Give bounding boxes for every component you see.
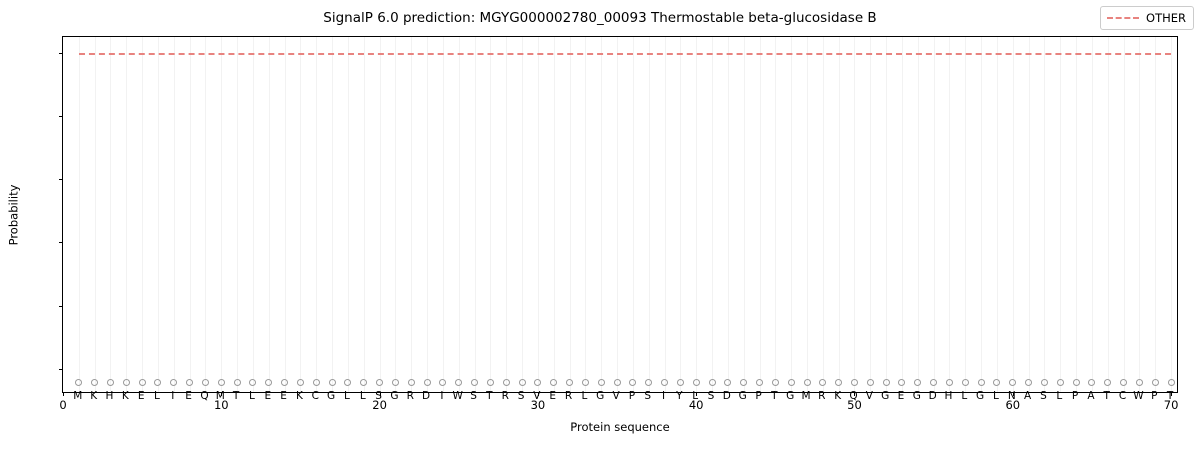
residue-marker: [424, 379, 431, 386]
residue-letter: C: [312, 391, 319, 402]
grid-line: [1013, 37, 1014, 392]
residue-letter: G: [786, 391, 794, 402]
grid-line: [617, 37, 618, 392]
residue-marker: [629, 379, 636, 386]
residue-marker: [709, 379, 716, 386]
residue-letter: W: [1133, 391, 1143, 402]
grid-lines: [63, 37, 1177, 392]
residue-marker: [408, 379, 415, 386]
residue-letter: M: [216, 391, 225, 402]
residue-letter: G: [739, 391, 747, 402]
residue-letter: A: [1024, 391, 1031, 402]
residue-letter: M: [801, 391, 810, 402]
residue-letter: H: [106, 391, 114, 402]
residue-letter: L: [692, 391, 698, 402]
residue-letter: D: [723, 391, 731, 402]
series-line-other: [79, 53, 1171, 55]
grid-line: [696, 37, 697, 392]
residue-marker: [962, 379, 969, 386]
grid-line: [1076, 37, 1077, 392]
residue-marker: [1120, 379, 1127, 386]
grid-line: [633, 37, 634, 392]
residue-marker: [946, 379, 953, 386]
grid-line: [807, 37, 808, 392]
grid-line: [538, 37, 539, 392]
residue-marker: [75, 379, 82, 386]
grid-line: [570, 37, 571, 392]
residue-letter: L: [961, 391, 967, 402]
residue-marker: [1088, 379, 1095, 386]
grid-line: [395, 37, 396, 392]
residue-letter: P: [629, 391, 635, 402]
residue-marker: [234, 379, 241, 386]
grid-line: [316, 37, 317, 392]
grid-line: [760, 37, 761, 392]
grid-line: [411, 37, 412, 392]
residue-letter: S: [708, 391, 715, 402]
residue-marker: [914, 379, 921, 386]
residue-letter: M: [73, 391, 82, 402]
page-title: SignalP 6.0 prediction: MGYG000002780_00…: [0, 10, 1200, 26]
residue-letter: G: [881, 391, 889, 402]
residue-marker: [313, 379, 320, 386]
residue-marker: [835, 379, 842, 386]
residue-letter: R: [565, 391, 572, 402]
residue-letter: A: [1087, 391, 1094, 402]
residue-letter: E: [280, 391, 287, 402]
residue-marker: [756, 379, 763, 386]
y-axis-tick: [59, 306, 63, 307]
grid-line: [649, 37, 650, 392]
residue-letter: G: [596, 391, 604, 402]
residue-marker: [360, 379, 367, 386]
residue-marker: [851, 379, 858, 386]
residue-marker: [867, 379, 874, 386]
grid-line: [79, 37, 80, 392]
grid-line: [854, 37, 855, 392]
grid-line: [680, 37, 681, 392]
residue-letter: L: [581, 391, 587, 402]
residue-marker: [614, 379, 621, 386]
residue-letter: S: [518, 391, 525, 402]
signalp-prediction-figure: SignalP 6.0 prediction: MGYG000002780_00…: [0, 0, 1200, 450]
residue-letter: K: [122, 391, 129, 402]
residue-letter: D: [929, 391, 937, 402]
residue-marker: [123, 379, 130, 386]
grid-line: [443, 37, 444, 392]
x-axis-tick: [63, 392, 64, 396]
residue-marker: [788, 379, 795, 386]
grid-line: [728, 37, 729, 392]
grid-line: [1139, 37, 1140, 392]
residue-marker: [534, 379, 541, 386]
residue-letter: S: [470, 391, 477, 402]
grid-line: [1108, 37, 1109, 392]
residue-marker: [139, 379, 146, 386]
residue-letter: S: [644, 391, 651, 402]
residue-marker: [218, 379, 225, 386]
residue-letter: R: [818, 391, 825, 402]
residue-marker: [1009, 379, 1016, 386]
residue-letter: W: [453, 391, 463, 402]
grid-line: [949, 37, 950, 392]
grid-line: [791, 37, 792, 392]
residue-marker: [582, 379, 589, 386]
residue-letter: L: [154, 391, 160, 402]
grid-line: [823, 37, 824, 392]
residue-letter: L: [249, 391, 255, 402]
residue-letter: E: [264, 391, 271, 402]
residue-letter: T: [233, 391, 239, 402]
residue-marker: [898, 379, 905, 386]
grid-line: [348, 37, 349, 392]
residue-marker: [344, 379, 351, 386]
y-axis-tick: [59, 242, 63, 243]
residue-letter: L: [993, 391, 999, 402]
grid-line: [902, 37, 903, 392]
grid-line: [981, 37, 982, 392]
residue-letter: I: [440, 391, 443, 402]
residue-marker: [503, 379, 510, 386]
residue-marker: [1057, 379, 1064, 386]
residue-letter: E: [898, 391, 905, 402]
residue-letter: P: [1151, 391, 1157, 402]
residue-marker: [471, 379, 478, 386]
grid-line: [775, 37, 776, 392]
residue-marker: [724, 379, 731, 386]
residue-marker: [519, 379, 526, 386]
residue-marker: [693, 379, 700, 386]
residue-letter: P: [755, 391, 761, 402]
grid-line: [427, 37, 428, 392]
residue-letter: L: [344, 391, 350, 402]
residue-letter: S: [375, 391, 382, 402]
residue-marker: [249, 379, 256, 386]
grid-line: [870, 37, 871, 392]
grid-line: [506, 37, 507, 392]
residue-letter: L: [1056, 391, 1062, 402]
residue-letter: R: [502, 391, 509, 402]
plot-area: 0.00.20.40.60.81.0 010203040506070: [62, 36, 1178, 393]
grid-line: [1092, 37, 1093, 392]
grid-line: [380, 37, 381, 392]
grid-line: [1060, 37, 1061, 392]
grid-line: [285, 37, 286, 392]
grid-line: [221, 37, 222, 392]
residue-letter: E: [185, 391, 192, 402]
y-axis-tick: [59, 53, 63, 54]
grid-line: [269, 37, 270, 392]
grid-line: [190, 37, 191, 392]
residue-marker: [376, 379, 383, 386]
grid-line: [126, 37, 127, 392]
grid-line: [95, 37, 96, 392]
residue-letter: Y: [676, 391, 682, 402]
residue-letter: T: [1167, 391, 1173, 402]
grid-line: [1124, 37, 1125, 392]
grid-line: [997, 37, 998, 392]
legend-swatch-other: [1107, 17, 1139, 19]
residue-marker: [677, 379, 684, 386]
residue-marker: [1041, 379, 1048, 386]
residue-letter: N: [1008, 391, 1016, 402]
residue-letter: V: [612, 391, 619, 402]
residue-letter: Q: [200, 391, 208, 402]
residue-marker: [930, 379, 937, 386]
grid-line: [1044, 37, 1045, 392]
grid-line: [712, 37, 713, 392]
residue-letter: R: [407, 391, 414, 402]
residue-marker: [265, 379, 272, 386]
residue-letter: P: [1072, 391, 1078, 402]
residue-letter: I: [662, 391, 665, 402]
grid-line: [601, 37, 602, 392]
residue-marker: [740, 379, 747, 386]
residue-marker: [819, 379, 826, 386]
residue-marker: [804, 379, 811, 386]
residue-letter: L: [360, 391, 366, 402]
grid-line: [744, 37, 745, 392]
residue-marker: [91, 379, 98, 386]
residue-letter: T: [1104, 391, 1110, 402]
y-axis-label-text: Probability: [6, 184, 20, 245]
residue-letter: S: [1040, 391, 1047, 402]
residue-letter: I: [171, 391, 174, 402]
residue-marker: [598, 379, 605, 386]
residue-letter: T: [486, 391, 492, 402]
residue-letter: H: [945, 391, 953, 402]
grid-line: [110, 37, 111, 392]
residue-marker: [550, 379, 557, 386]
grid-line: [253, 37, 254, 392]
residue-letter: K: [296, 391, 303, 402]
residue-marker: [645, 379, 652, 386]
grid-line: [665, 37, 666, 392]
grid-line: [142, 37, 143, 392]
legend: OTHER: [1100, 6, 1194, 30]
y-axis-tick: [59, 369, 63, 370]
residue-marker: [978, 379, 985, 386]
residue-marker: [186, 379, 193, 386]
y-axis-label: Probability: [5, 36, 21, 393]
grid-line: [174, 37, 175, 392]
residue-letter: V: [533, 391, 540, 402]
residue-marker: [487, 379, 494, 386]
residue-marker: [329, 379, 336, 386]
residue-letter: G: [976, 391, 984, 402]
residue-marker: [1152, 379, 1159, 386]
grid-line: [475, 37, 476, 392]
legend-label-other: OTHER: [1146, 11, 1186, 25]
grid-line: [522, 37, 523, 392]
residue-letter: E: [138, 391, 145, 402]
grid-line: [554, 37, 555, 392]
grid-line: [490, 37, 491, 392]
grid-line: [332, 37, 333, 392]
grid-line: [839, 37, 840, 392]
y-axis-tick: [59, 116, 63, 117]
residue-letter: Q: [849, 391, 857, 402]
residue-marker: [297, 379, 304, 386]
residue-marker: [1073, 379, 1080, 386]
grid-line: [918, 37, 919, 392]
residue-marker: [661, 379, 668, 386]
grid-line: [364, 37, 365, 392]
residue-letter: K: [834, 391, 841, 402]
grid-line: [585, 37, 586, 392]
grid-line: [1029, 37, 1030, 392]
residue-marker: [202, 379, 209, 386]
residue-marker: [170, 379, 177, 386]
residue-letter: V: [866, 391, 873, 402]
residue-marker: [993, 379, 1000, 386]
grid-line: [965, 37, 966, 392]
residue-marker: [1136, 379, 1143, 386]
residue-letter: K: [90, 391, 97, 402]
residue-marker: [1104, 379, 1111, 386]
residue-marker: [107, 379, 114, 386]
grid-line: [205, 37, 206, 392]
residue-marker: [772, 379, 779, 386]
grid-line: [934, 37, 935, 392]
residue-letter: G: [327, 391, 335, 402]
y-axis-tick: [59, 179, 63, 180]
residue-marker: [883, 379, 890, 386]
residue-letter: C: [1119, 391, 1126, 402]
grid-line: [886, 37, 887, 392]
residue-letter: E: [549, 391, 556, 402]
residue-marker: [154, 379, 161, 386]
residue-marker: [392, 379, 399, 386]
grid-line: [158, 37, 159, 392]
residue-letter: T: [771, 391, 777, 402]
grid-line: [1171, 37, 1172, 392]
grid-line: [1155, 37, 1156, 392]
residue-marker: [1025, 379, 1032, 386]
residue-marker: [566, 379, 573, 386]
residue-marker: [1168, 379, 1175, 386]
x-axis-label: Protein sequence: [62, 420, 1178, 434]
residue-marker: [439, 379, 446, 386]
residue-marker: [455, 379, 462, 386]
grid-line: [459, 37, 460, 392]
residue-letter: G: [390, 391, 398, 402]
residue-letter: D: [422, 391, 430, 402]
x-axis-tick-label: 0: [59, 398, 66, 412]
grid-line: [300, 37, 301, 392]
grid-line: [237, 37, 238, 392]
residue-marker: [281, 379, 288, 386]
residue-letter: G: [913, 391, 921, 402]
